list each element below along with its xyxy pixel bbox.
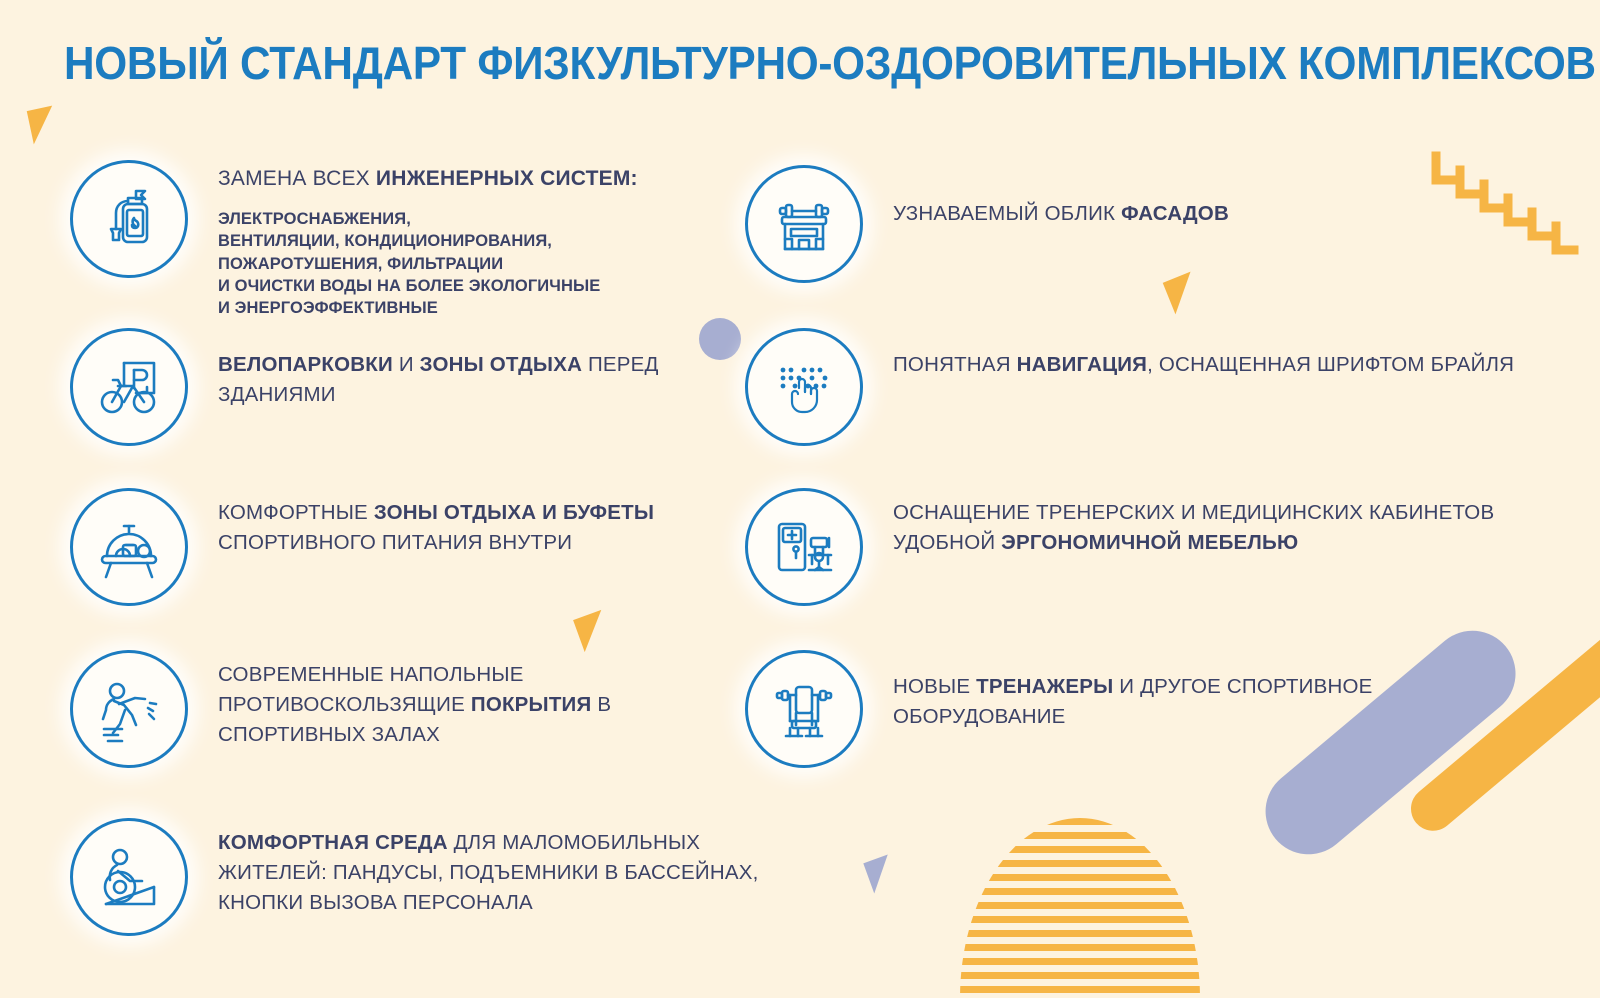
list-item: СОВРЕМЕННЫЕ НАПОЛЬНЫЕ ПРОТИВОСКОЛЬЗЯЩИЕ … bbox=[70, 650, 760, 768]
segment: УЗНАВАЕМЫЙ ОБЛИК bbox=[893, 202, 1121, 225]
list-item-text: НОВЫЕ ТРЕНАЖЕРЫ И ДРУГОЕ СПОРТИВНОЕ ОБОР… bbox=[863, 650, 1535, 732]
bike-parking-icon bbox=[70, 328, 188, 446]
medical-office-icon bbox=[745, 488, 863, 606]
list-item-text: УЗНАВАЕМЫЙ ОБЛИК ФАСАДОВ bbox=[863, 165, 1229, 229]
list-item-text: ПОНЯТНАЯ НАВИГАЦИЯ, ОСНАЩЕННАЯ ШРИФТОМ Б… bbox=[863, 328, 1514, 380]
wheelchair-ramp-icon bbox=[70, 818, 188, 936]
striped-arc-decoration bbox=[960, 818, 1200, 998]
page-title: НОВЫЙ СТАНДАРТ ФИЗКУЛЬТУРНО-ОЗДОРОВИТЕЛЬ… bbox=[64, 36, 1536, 90]
segment: ЗОНЫ ОТДЫХА И БУФЕТЫ bbox=[374, 501, 654, 524]
list-item-text: КОМФОРТНАЯ СРЕДА ДЛЯ МАЛОМОБИЛЬНЫХ ЖИТЕЛ… bbox=[188, 818, 760, 918]
list-item-text: ОСНАЩЕНИЕ ТРЕНЕРСКИХ И МЕДИЦИНСКИХ КАБИН… bbox=[863, 488, 1535, 558]
segment: НАВИГАЦИЯ bbox=[1017, 353, 1148, 376]
segment: КОМФОРТНЫЕ bbox=[218, 501, 374, 524]
infographic-poster: НОВЫЙ СТАНДАРТ ФИЗКУЛЬТУРНО-ОЗДОРОВИТЕЛЬ… bbox=[0, 0, 1600, 998]
sub-line: ЭЛЕКТРОСНАБЖЕНИЯ, bbox=[218, 208, 638, 230]
chevron-stack-decoration bbox=[1430, 150, 1600, 290]
buffet-tray-icon bbox=[70, 488, 188, 606]
segment: ФАСАДОВ bbox=[1121, 202, 1229, 225]
orange-triangle-icon bbox=[27, 106, 60, 145]
sub-line: ПОЖАРОТУШЕНИЯ, ФИЛЬТРАЦИИ bbox=[218, 253, 638, 275]
list-item: НОВЫЕ ТРЕНАЖЕРЫ И ДРУГОЕ СПОРТИВНОЕ ОБОР… bbox=[745, 650, 1535, 768]
list-item: КОМФОРТНАЯ СРЕДА ДЛЯ МАЛОМОБИЛЬНЫХ ЖИТЕЛ… bbox=[70, 818, 760, 936]
orange-triangle-icon bbox=[573, 610, 613, 652]
fire-extinguisher-icon bbox=[70, 160, 188, 278]
list-item-text: ЗАМЕНА ВСЕХ ИНЖЕНЕРНЫХ СИСТЕМ: ЭЛЕКТРОСН… bbox=[188, 160, 638, 320]
periwinkle-triangle-icon bbox=[863, 855, 898, 894]
list-item-heading: ЗАМЕНА ВСЕХ ИНЖЕНЕРНЫХ СИСТЕМ: bbox=[218, 164, 638, 195]
segment: КОМФОРТНАЯ СРЕДА bbox=[218, 831, 448, 854]
list-item: ПОНЯТНАЯ НАВИГАЦИЯ, ОСНАЩЕННАЯ ШРИФТОМ Б… bbox=[745, 328, 1514, 446]
list-item-text: ВЕЛОПАРКОВКИ И ЗОНЫ ОТДЫХА ПЕРЕД ЗДАНИЯМ… bbox=[188, 328, 760, 410]
list-item: КОМФОРТНЫЕ ЗОНЫ ОТДЫХА И БУФЕТЫ СПОРТИВН… bbox=[70, 488, 760, 606]
list-item: ВЕЛОПАРКОВКИ И ЗОНЫ ОТДЫХА ПЕРЕД ЗДАНИЯМ… bbox=[70, 328, 760, 446]
list-item: УЗНАВАЕМЫЙ ОБЛИК ФАСАДОВ bbox=[745, 165, 1229, 283]
sub-line: ВЕНТИЛЯЦИИ, КОНДИЦИОНИРОВАНИЯ, bbox=[218, 230, 638, 252]
list-item: ЗАМЕНА ВСЕХ ИНЖЕНЕРНЫХ СИСТЕМ: ЭЛЕКТРОСН… bbox=[70, 160, 638, 320]
segment: И bbox=[393, 353, 420, 376]
segment: СПОРТИВНОГО ПИТАНИЯ ВНУТРИ bbox=[218, 531, 572, 554]
heading-plain: ЗАМЕНА ВСЕХ bbox=[218, 167, 376, 190]
segment: ПОНЯТНАЯ bbox=[893, 353, 1017, 376]
gym-building-icon bbox=[745, 165, 863, 283]
segment: , ОСНАЩЕННАЯ ШРИФТОМ БРАЙЛЯ bbox=[1147, 353, 1514, 376]
sub-line: И ЭНЕРГОЭФФЕКТИВНЫЕ bbox=[218, 297, 638, 319]
gym-machine-icon bbox=[745, 650, 863, 768]
segment: ВЕЛОПАРКОВКИ bbox=[218, 353, 393, 376]
heading-bold: ИНЖЕНЕРНЫХ СИСТЕМ: bbox=[376, 167, 638, 190]
segment: ПОКРЫТИЯ bbox=[471, 693, 592, 716]
list-item-text: СОВРЕМЕННЫЕ НАПОЛЬНЫЕ ПРОТИВОСКОЛЬЗЯЩИЕ … bbox=[188, 650, 760, 750]
segment: НОВЫЕ bbox=[893, 675, 976, 698]
list-item: ОСНАЩЕНИЕ ТРЕНЕРСКИХ И МЕДИЦИНСКИХ КАБИН… bbox=[745, 488, 1535, 606]
list-item-text: КОМФОРТНЫЕ ЗОНЫ ОТДЫХА И БУФЕТЫ СПОРТИВН… bbox=[188, 488, 760, 558]
segment: ЗОНЫ ОТДЫХА bbox=[420, 353, 582, 376]
slippery-floor-icon bbox=[70, 650, 188, 768]
braille-hand-icon bbox=[745, 328, 863, 446]
sub-line: И ОЧИСТКИ ВОДЫ НА БОЛЕЕ ЭКОЛОГИЧНЫЕ bbox=[218, 275, 638, 297]
segment: ТРЕНАЖЕРЫ bbox=[976, 675, 1113, 698]
segment: ЭРГОНОМИЧНОЙ МЕБЕЛЬЮ bbox=[1001, 531, 1298, 554]
